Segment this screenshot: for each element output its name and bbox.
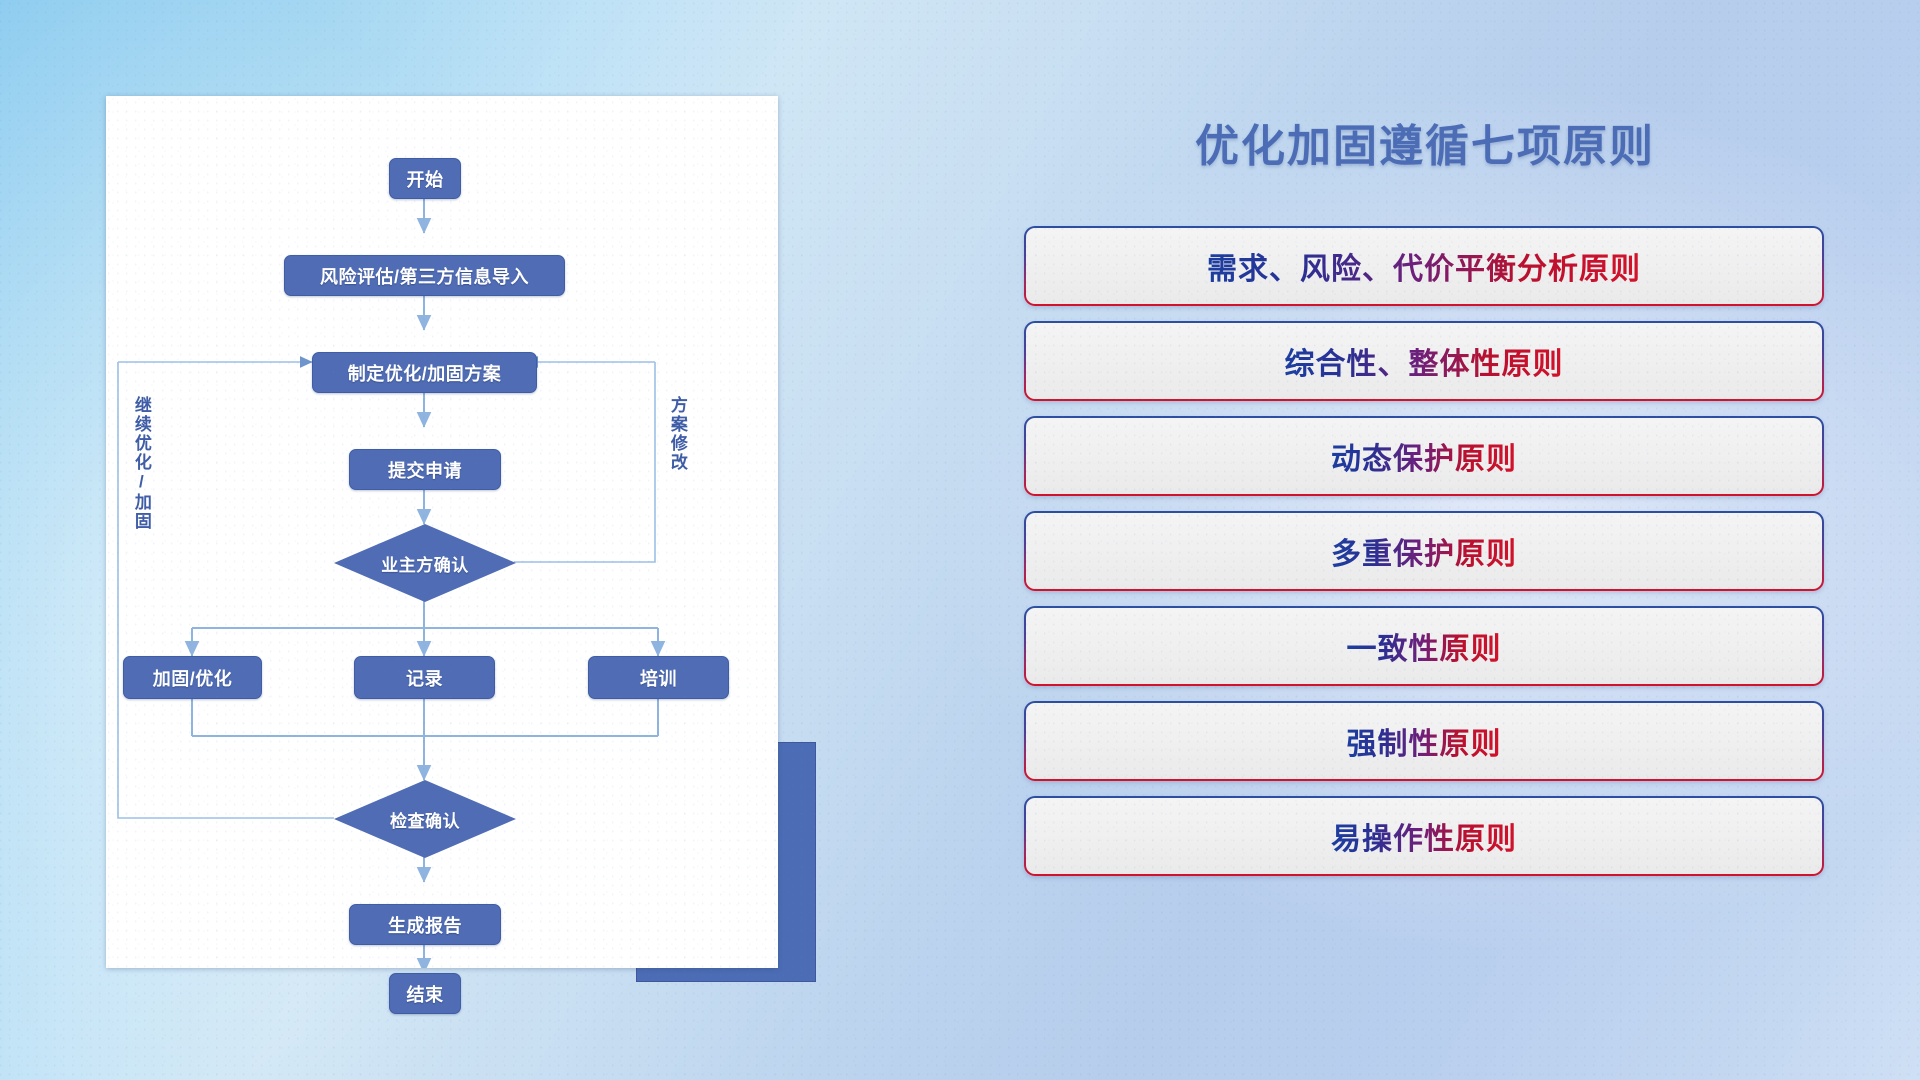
- principle-card-4[interactable]: 多重保护原则: [1024, 511, 1824, 591]
- principles-list: 需求、风险、代价平衡分析原则 综合性、整体性原则 动态保护原则 多重保护原则: [1024, 226, 1824, 891]
- principle-card-inner: 一致性原则: [1026, 608, 1822, 684]
- principle-card-inner: 需求、风险、代价平衡分析原则: [1026, 228, 1822, 304]
- principle-label: 强制性原则: [1347, 719, 1502, 763]
- principle-card-inner: 多重保护原则: [1026, 513, 1822, 589]
- flow-node-record[interactable]: 记录: [354, 656, 495, 699]
- principle-card-7[interactable]: 易操作性原则: [1024, 796, 1824, 876]
- principle-card-inner: 强制性原则: [1026, 703, 1822, 779]
- flowchart: 开始 风险评估/第三方信息导入 制定优化/加固方案 提交申请 业主方确认 加固/…: [106, 96, 778, 968]
- principles-title: 优化加固遵循七项原则: [1010, 110, 1840, 174]
- slide-root: 开始 风险评估/第三方信息导入 制定优化/加固方案 提交申请 业主方确认 加固/…: [0, 0, 1920, 1080]
- flow-node-start[interactable]: 开始: [389, 158, 461, 199]
- principle-label: 需求、风险、代价平衡分析原则: [1207, 244, 1641, 288]
- principle-label: 易操作性原则: [1331, 814, 1517, 858]
- flowchart-panel: 开始 风险评估/第三方信息导入 制定优化/加固方案 提交申请 业主方确认 加固/…: [106, 96, 778, 968]
- principle-card-2[interactable]: 综合性、整体性原则: [1024, 321, 1824, 401]
- flow-node-generate-report[interactable]: 生成报告: [349, 904, 501, 945]
- flow-node-reinforce-optimize[interactable]: 加固/优化: [123, 656, 262, 699]
- principle-card-5[interactable]: 一致性原则: [1024, 606, 1824, 686]
- principle-label: 多重保护原则: [1331, 529, 1517, 573]
- principle-label: 综合性、整体性原则: [1285, 339, 1564, 383]
- flow-edge-label-plan-revision: 方案修改: [668, 396, 686, 472]
- principle-card-inner: 动态保护原则: [1026, 418, 1822, 494]
- flow-node-risk-assessment[interactable]: 风险评估/第三方信息导入: [284, 255, 565, 296]
- flow-node-end[interactable]: 结束: [389, 973, 461, 1014]
- flow-edge-label-continue-optimize: 继续优化/加固: [132, 396, 150, 531]
- principle-card-6[interactable]: 强制性原则: [1024, 701, 1824, 781]
- flow-node-plan[interactable]: 制定优化/加固方案: [312, 352, 537, 393]
- principle-card-inner: 综合性、整体性原则: [1026, 323, 1822, 399]
- principle-card-3[interactable]: 动态保护原则: [1024, 416, 1824, 496]
- flow-node-submit-application[interactable]: 提交申请: [349, 449, 501, 490]
- principle-card-1[interactable]: 需求、风险、代价平衡分析原则: [1024, 226, 1824, 306]
- flow-node-training[interactable]: 培训: [588, 656, 729, 699]
- principle-card-inner: 易操作性原则: [1026, 798, 1822, 874]
- principles-pane: 优化加固遵循七项原则 需求、风险、代价平衡分析原则 综合性、整体性原则 动态保护…: [1010, 96, 1840, 996]
- principle-label: 动态保护原则: [1331, 434, 1517, 478]
- principle-label: 一致性原则: [1347, 624, 1502, 668]
